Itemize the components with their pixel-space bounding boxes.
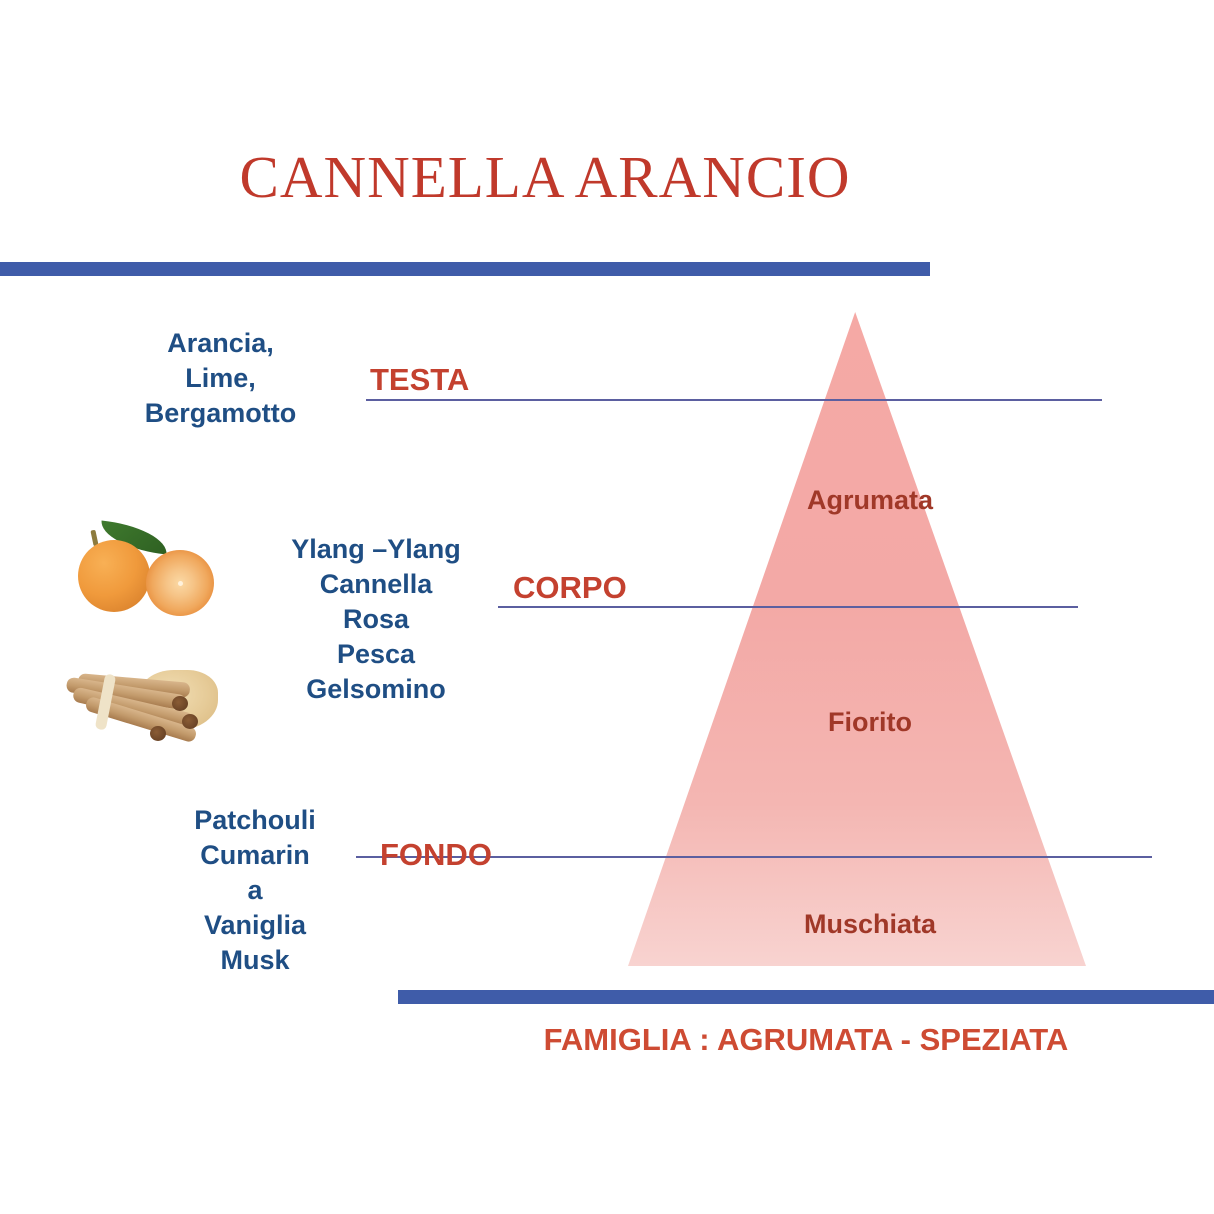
notes-list-fondo: Patchouli Cumarin a Vaniglia Musk (155, 803, 355, 978)
orange-photo (64, 498, 222, 626)
cinnamon-stick-tip-icon (172, 696, 188, 711)
corpo-separator-line (498, 606, 1078, 608)
orange-whole-icon (78, 540, 150, 612)
page-title: CANNELLA ARANCIO (0, 143, 1090, 212)
stage-label-corpo: CORPO (513, 570, 627, 606)
orange-half-icon (146, 550, 214, 616)
notes-list-testa: Arancia, Lime, Bergamotto (108, 326, 333, 431)
top-divider-bar (0, 262, 930, 276)
fragrance-pyramid-slide: CANNELLA ARANCIO TESTA CORPO FONDO Aranc… (0, 0, 1214, 1214)
stage-label-fondo: FONDO (380, 837, 492, 873)
notes-list-corpo: Ylang –Ylang Cannella Rosa Pesca Gelsomi… (256, 532, 496, 707)
bottom-divider-bar (398, 990, 1214, 1004)
pyramid-label-muschiata: Muschiata (700, 909, 1040, 940)
pyramid-label-fiorito: Fiorito (700, 707, 1040, 738)
stage-label-testa: TESTA (370, 362, 469, 398)
pyramid-label-agrumata: Agrumata (700, 485, 1040, 516)
fragrance-pyramid-shape (628, 312, 1086, 966)
cinnamon-photo (64, 652, 222, 756)
testa-separator-line (366, 399, 1102, 401)
family-caption: FAMIGLIA : AGRUMATA - SPEZIATA (398, 1022, 1214, 1058)
cinnamon-stick-tip-icon (182, 714, 198, 729)
cinnamon-stick-tip-icon (150, 726, 166, 741)
